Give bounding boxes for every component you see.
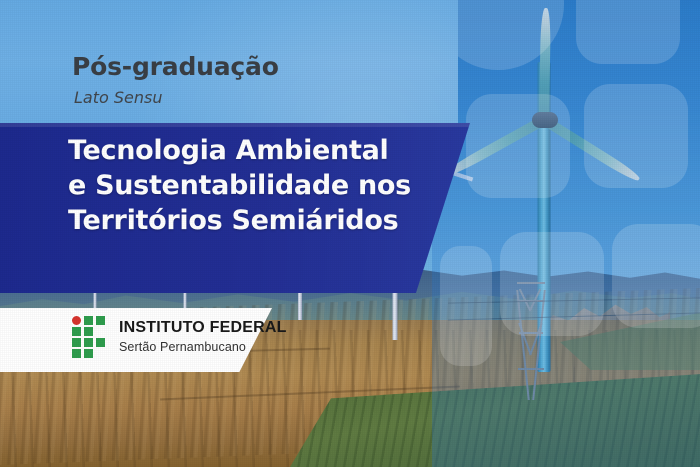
pylon-brace-3 bbox=[518, 323, 531, 355]
logo-wordmark: INSTITUTO FEDERAL Sertão Pernambucano bbox=[119, 320, 287, 354]
mark-cell bbox=[84, 316, 93, 325]
mark-dot-red bbox=[72, 316, 81, 325]
program-kicker-subtitle: Lato Sensu bbox=[74, 88, 162, 107]
pylon-crossbar-top bbox=[517, 282, 545, 284]
mark-cell bbox=[72, 349, 81, 358]
logo-institution-name: INSTITUTO FEDERAL bbox=[119, 320, 287, 337]
mark-cell bbox=[96, 316, 105, 325]
course-title-line-1: Tecnologia Ambiental bbox=[68, 133, 458, 168]
instituto-federal-mark-icon bbox=[72, 316, 112, 358]
program-kicker: Pós-graduação bbox=[72, 52, 279, 81]
power-line-pylon bbox=[516, 278, 546, 400]
course-promo-banner: Pós-graduação Lato Sensu Tecnologia Ambi… bbox=[0, 0, 700, 467]
course-title-line-2: e Sustentabilidade nos bbox=[68, 168, 458, 203]
pylon-crossbar-base bbox=[518, 368, 544, 370]
logo-campus-name: Sertão Pernambucano bbox=[119, 340, 287, 354]
mark-cell bbox=[84, 327, 93, 336]
mark-cell bbox=[96, 338, 105, 347]
mark-cell bbox=[84, 338, 93, 347]
turbine-blade-main-up bbox=[539, 8, 551, 120]
mark-cell bbox=[72, 338, 81, 347]
mark-cell bbox=[72, 327, 81, 336]
mark-cell bbox=[84, 349, 93, 358]
course-title-line-3: Territórios Semiáridos bbox=[68, 203, 458, 238]
turbine-nacelle-main bbox=[532, 112, 558, 128]
course-title: Tecnologia Ambiental e Sustentabilidade … bbox=[68, 133, 458, 238]
